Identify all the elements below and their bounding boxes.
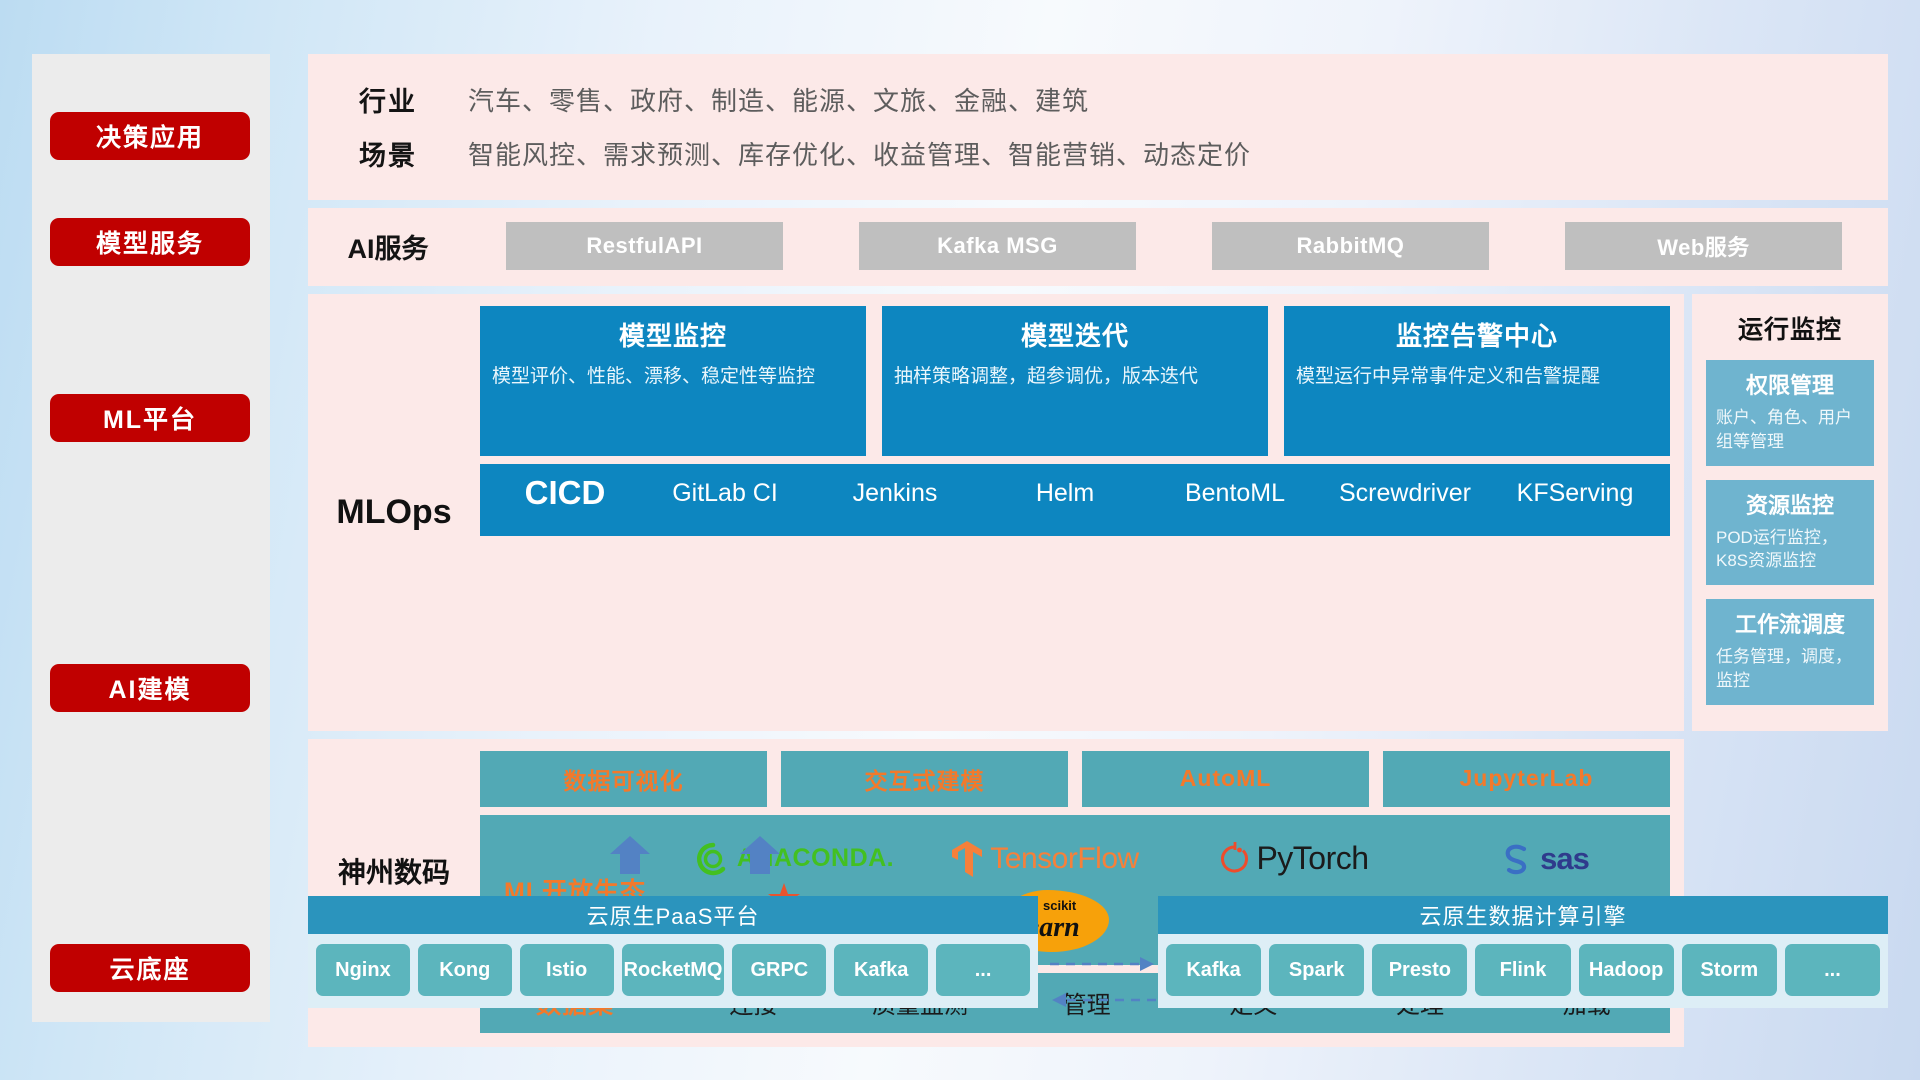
data-engine-up-arrow-icon: [738, 836, 782, 874]
stack-layer-rail: 决策应用 模型服务 ML平台 AI建模 云底座: [32, 54, 270, 1022]
scenario-label: 场景: [308, 134, 468, 173]
data-chip-flink[interactable]: Flink: [1475, 944, 1570, 996]
data-chip-spark[interactable]: Spark: [1269, 944, 1364, 996]
scenario-value: 智能风控、需求预测、库存优化、收益管理、智能营销、动态定价: [468, 135, 1251, 172]
rail-item-model-service[interactable]: 模型服务: [50, 218, 250, 266]
rail-item-label: 云底座: [109, 950, 190, 986]
data-chip-more[interactable]: ...: [1785, 944, 1880, 996]
card-title: 监控告警中心: [1296, 316, 1658, 353]
run-monitor-card-workflow[interactable]: 工作流调度 任务管理，调度，监控: [1706, 599, 1874, 705]
scenario-row: 场景 智能风控、需求预测、库存优化、收益管理、智能营销、动态定价: [308, 126, 1888, 180]
cicd-item-screwdriver[interactable]: Screwdriver: [1320, 476, 1490, 508]
cicd-item-kfserving[interactable]: KFServing: [1490, 476, 1660, 508]
mlops-card-model-iteration[interactable]: 模型迭代 抽样策略调整，超参调优，版本迭代: [882, 306, 1268, 456]
cicd-bar: CICD GitLab CI Jenkins Helm BentoML Scre…: [480, 464, 1670, 536]
ai-service-band: AI服务 RestfulAPI Kafka MSG RabbitMQ Web服务: [308, 208, 1888, 286]
decision-apps-band: 行业 汽车、零售、政府、制造、能源、文旅、金融、建筑 场景 智能风控、需求预测、…: [308, 54, 1888, 200]
rail-item-label: 模型服务: [96, 224, 204, 260]
mlops-content: 模型监控 模型评价、性能、漂移、稳定性等监控 模型迭代 抽样策略调整，超参调优，…: [480, 306, 1670, 719]
cloud-native-data-engine-group: 云原生数据计算引擎 Kafka Spark Presto Flink Hadoo…: [1158, 896, 1888, 1008]
ml-lab-tool-list: 数据可视化 交互式建模 AutoML JupyterLab: [480, 751, 1670, 807]
mlops-band: MLOps 模型监控 模型评价、性能、漂移、稳定性等监控 模型迭代 抽样策略调整…: [308, 294, 1684, 731]
cicd-item-gitlab-ci[interactable]: GitLab CI: [640, 476, 810, 508]
ai-service-chip-list: RestfulAPI Kafka MSG RabbitMQ Web服务: [468, 222, 1888, 270]
card-desc: 抽样策略调整，超参调优，版本迭代: [894, 363, 1256, 391]
mlops-card-alert-center[interactable]: 监控告警中心 模型运行中异常事件定义和告警提醒: [1284, 306, 1670, 456]
ai-service-label: AI服务: [308, 227, 468, 266]
mlops-card-list: 模型监控 模型评价、性能、漂移、稳定性等监控 模型迭代 抽样策略调整，超参调优，…: [480, 306, 1670, 456]
paas-chip-nginx[interactable]: Nginx: [316, 944, 410, 996]
card-desc: POD运行监控，K8S资源监控: [1716, 526, 1864, 574]
card-title: 模型迭代: [894, 316, 1256, 353]
card-title: 权限管理: [1716, 368, 1864, 400]
ml-platform-row: MLOps 模型监控 模型评价、性能、漂移、稳定性等监控 模型迭代 抽样策略调整…: [308, 294, 1888, 731]
paas-chip-rocketmq[interactable]: RocketMQ: [622, 944, 725, 996]
industry-value: 汽车、零售、政府、制造、能源、文旅、金融、建筑: [468, 81, 1089, 118]
paas-chip-more[interactable]: ...: [936, 944, 1030, 996]
paas-chip-grpc[interactable]: GRPC: [732, 944, 826, 996]
run-monitor-card-permission[interactable]: 权限管理 账户、角色、用户组等管理: [1706, 360, 1874, 466]
cicd-item-jenkins[interactable]: Jenkins: [810, 476, 980, 508]
cicd-label: CICD: [490, 476, 640, 509]
paas-chip-istio[interactable]: Istio: [520, 944, 614, 996]
rail-item-label: AI建模: [108, 670, 191, 706]
card-title: 资源监控: [1716, 488, 1864, 520]
cloud-native-data-engine-title: 云原生数据计算引擎: [1158, 896, 1888, 934]
bidirectional-link-arrows: [1048, 950, 1158, 1012]
run-monitor-panel: 运行监控 权限管理 账户、角色、用户组等管理 资源监控 POD运行监控，K8S资…: [1692, 294, 1888, 731]
data-chip-kafka[interactable]: Kafka: [1166, 944, 1261, 996]
data-chip-hadoop[interactable]: Hadoop: [1579, 944, 1674, 996]
data-chip-presto[interactable]: Presto: [1372, 944, 1467, 996]
cicd-item-helm[interactable]: Helm: [980, 476, 1150, 508]
card-desc: 账户、角色、用户组等管理: [1716, 406, 1864, 454]
rail-item-decision-apps[interactable]: 决策应用: [50, 112, 250, 160]
ai-service-chip-restfulapi[interactable]: RestfulAPI: [506, 222, 783, 270]
data-chip-storm[interactable]: Storm: [1682, 944, 1777, 996]
paas-up-arrow-icon: [608, 836, 652, 874]
card-desc: 模型运行中异常事件定义和告警提醒: [1296, 363, 1658, 391]
mlops-label: MLOps: [308, 306, 480, 719]
mlops-card-model-monitoring[interactable]: 模型监控 模型评价、性能、漂移、稳定性等监控: [480, 306, 866, 456]
ai-service-chip-rabbitmq[interactable]: RabbitMQ: [1212, 222, 1489, 270]
card-title: 模型监控: [492, 316, 854, 353]
ml-lab-tool-data-visualization[interactable]: 数据可视化: [480, 751, 767, 807]
industry-row: 行业 汽车、零售、政府、制造、能源、文旅、金融、建筑: [308, 72, 1888, 126]
ai-service-chip-kafka-msg[interactable]: Kafka MSG: [859, 222, 1136, 270]
cloud-native-paas-group: 云原生PaaS平台 Nginx Kong Istio RocketMQ GRPC…: [308, 896, 1038, 1008]
cloud-native-paas-title: 云原生PaaS平台: [308, 896, 1038, 934]
cloud-base-zone: 云原生PaaS平台 Nginx Kong Istio RocketMQ GRPC…: [308, 870, 1888, 1030]
cloud-native-data-engine-chip-list: Kafka Spark Presto Flink Hadoop Storm ..…: [1158, 934, 1888, 1008]
card-title: 工作流调度: [1716, 607, 1864, 639]
ml-lab-tool-jupyterlab[interactable]: JupyterLab: [1383, 751, 1670, 807]
run-monitor-card-resource[interactable]: 资源监控 POD运行监控，K8S资源监控: [1706, 480, 1874, 586]
rail-item-cloud-base[interactable]: 云底座: [50, 944, 250, 992]
run-monitor-title: 运行监控: [1706, 310, 1874, 346]
industry-label: 行业: [308, 80, 468, 119]
cicd-item-bentoml[interactable]: BentoML: [1150, 476, 1320, 508]
cloud-native-paas-chip-list: Nginx Kong Istio RocketMQ GRPC Kafka ...: [308, 934, 1038, 1008]
paas-chip-kong[interactable]: Kong: [418, 944, 512, 996]
card-desc: 模型评价、性能、漂移、稳定性等监控: [492, 363, 854, 391]
paas-chip-kafka[interactable]: Kafka: [834, 944, 928, 996]
rail-item-ml-platform[interactable]: ML平台: [50, 394, 250, 442]
ml-lab-tool-automl[interactable]: AutoML: [1082, 751, 1369, 807]
rail-item-ai-modeling[interactable]: AI建模: [50, 664, 250, 712]
rail-item-label: 决策应用: [96, 118, 204, 154]
ml-lab-tool-interactive-modeling[interactable]: 交互式建模: [781, 751, 1068, 807]
rail-item-label: ML平台: [103, 400, 197, 436]
card-desc: 任务管理，调度，监控: [1716, 645, 1864, 693]
ai-service-chip-web-service[interactable]: Web服务: [1565, 222, 1842, 270]
